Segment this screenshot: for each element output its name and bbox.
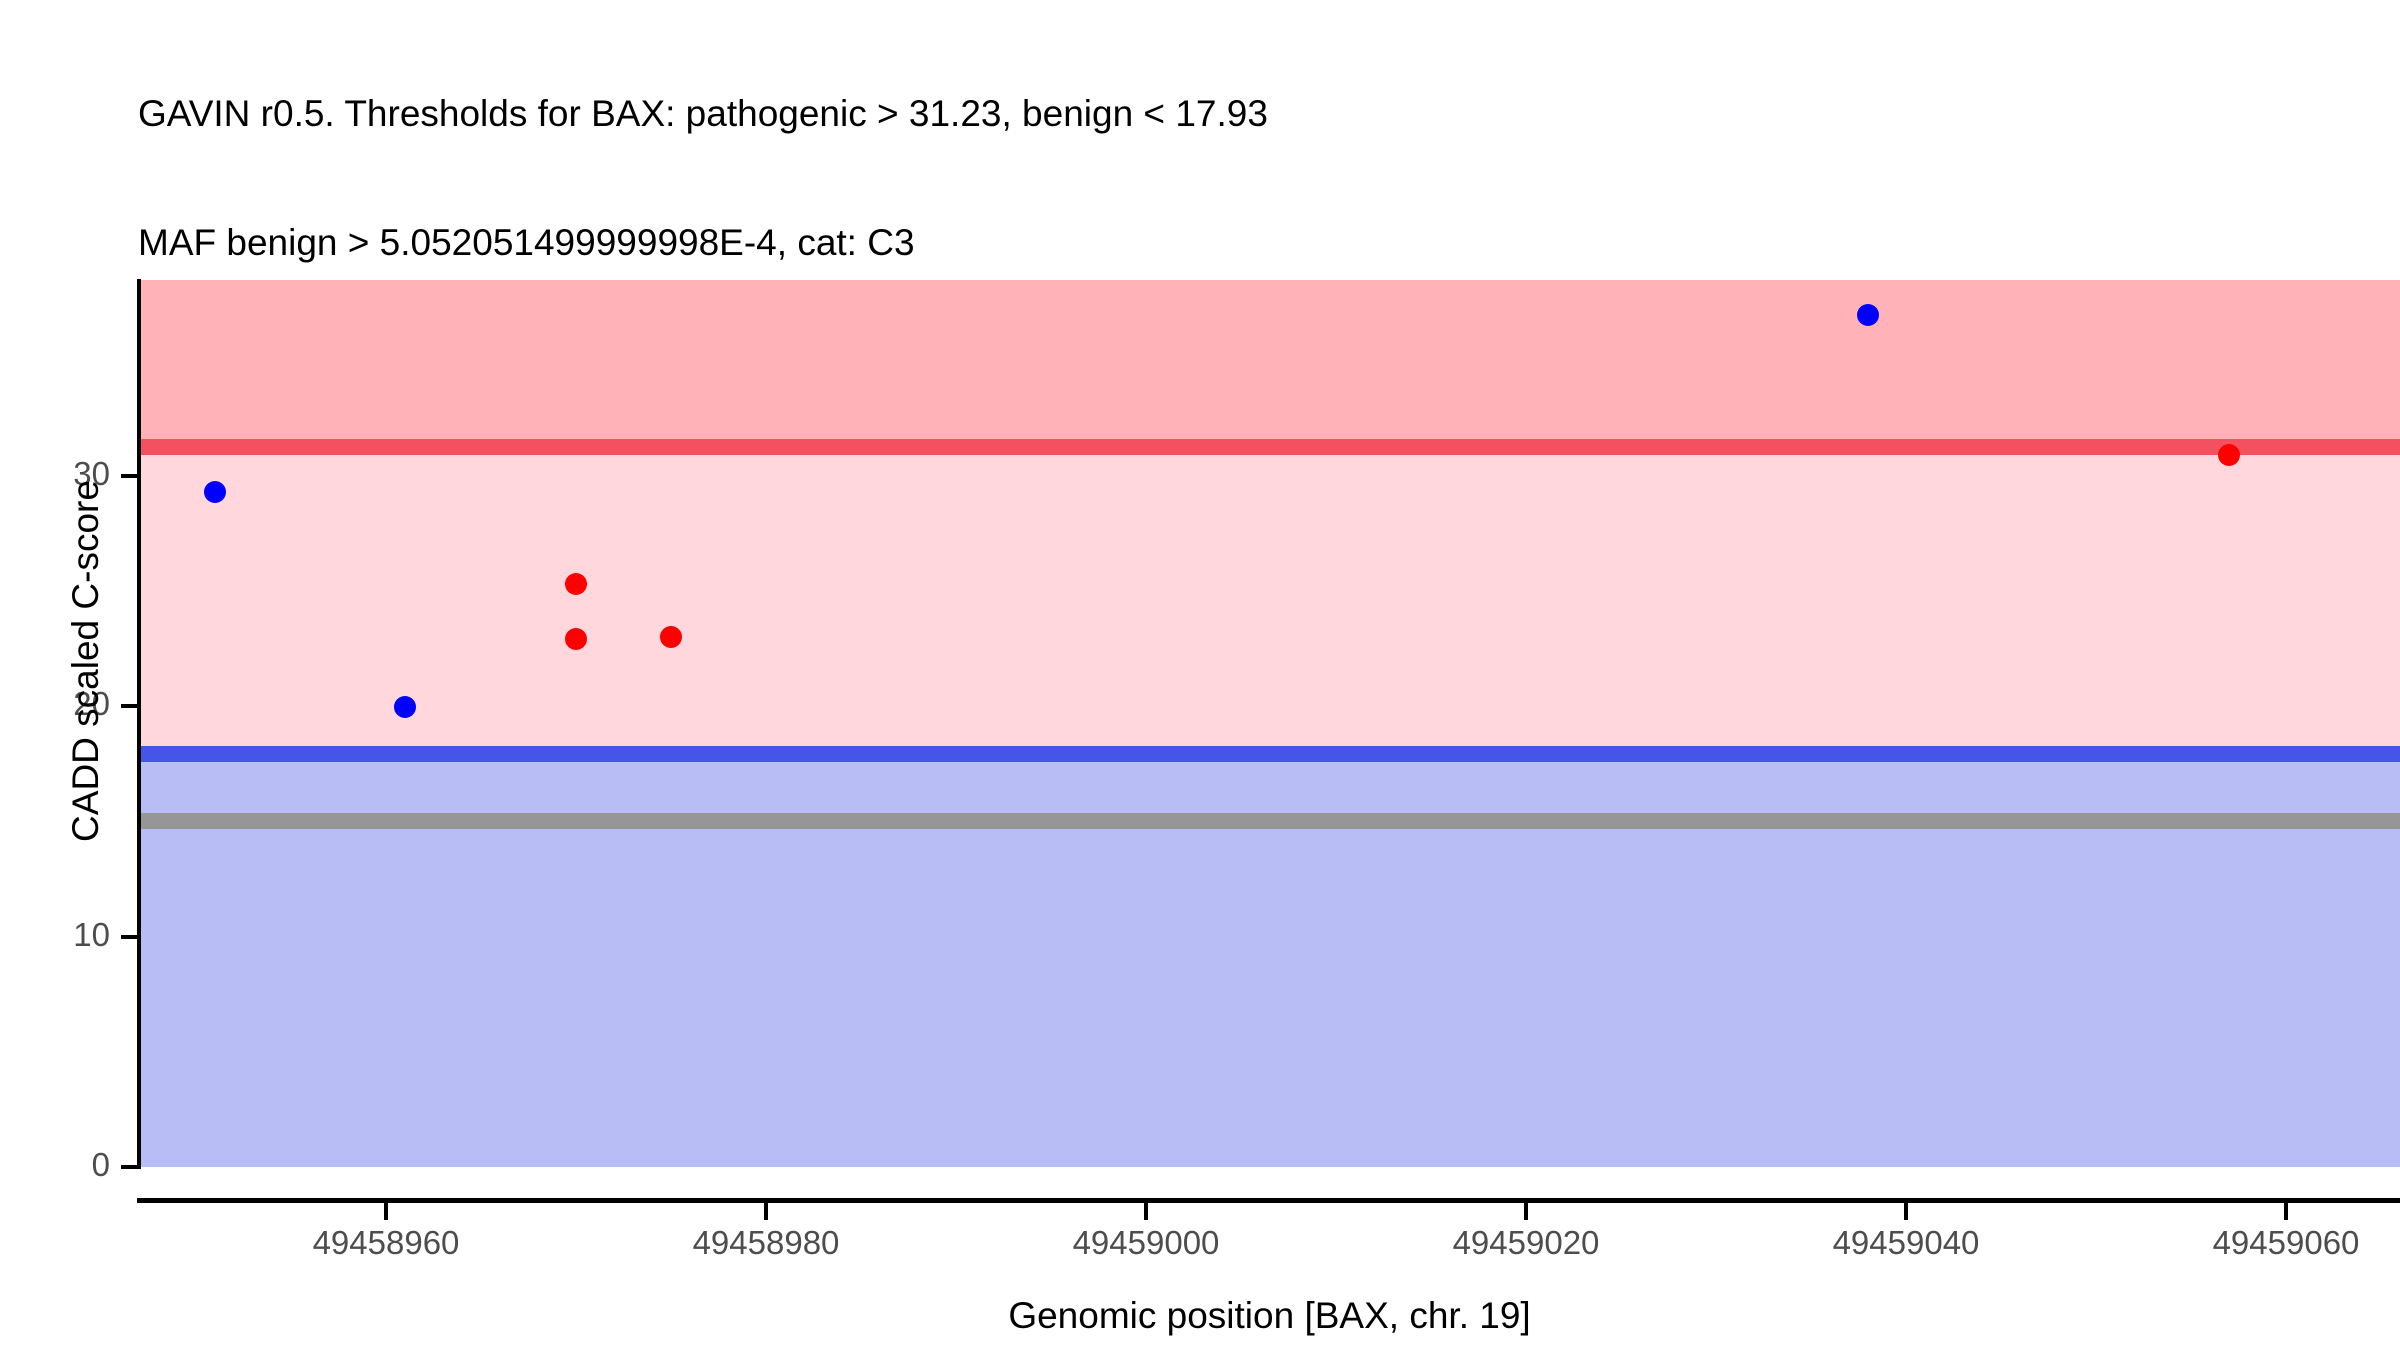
- y-axis-tick: [121, 474, 137, 478]
- x-axis-tick: [1144, 1203, 1148, 1220]
- pathogenic-band: [139, 280, 2400, 447]
- plot-area: [139, 280, 2400, 1167]
- data-point[interactable]: [565, 573, 587, 595]
- y-axis-label: CADD scaled C-score: [65, 361, 107, 961]
- x-axis-label: Genomic position [BAX, chr. 19]: [139, 1295, 2400, 1337]
- x-axis-tick-label: 49459020: [1376, 1224, 1676, 1262]
- x-axis-tick-label: 49459040: [1756, 1224, 2056, 1262]
- data-point[interactable]: [204, 481, 226, 503]
- genome-wide-fallback-threshold: [139, 813, 2400, 829]
- x-axis-tick: [764, 1203, 768, 1220]
- y-axis-tick: [121, 935, 137, 939]
- data-point[interactable]: [2218, 444, 2240, 466]
- x-axis-tick: [2284, 1203, 2288, 1220]
- x-axis-tick-label: 49458980: [616, 1224, 916, 1262]
- pathogenic-threshold: [139, 439, 2400, 455]
- y-axis-tick: [121, 1165, 137, 1169]
- x-axis-tick-label: 49459000: [996, 1224, 1296, 1262]
- benign-threshold: [139, 746, 2400, 762]
- y-axis-tick: [121, 704, 137, 708]
- chart-title-line-2: MAF benign > 5.052051499999998E-4, cat: …: [138, 221, 2378, 264]
- vous-band: [139, 447, 2400, 753]
- y-axis-tick-label: 0: [0, 1146, 110, 1184]
- chart-canvas: GAVIN r0.5. Thresholds for BAX: pathogen…: [0, 0, 2400, 1350]
- x-axis-tick: [384, 1203, 388, 1220]
- x-axis-tick-label: 49459060: [2136, 1224, 2400, 1262]
- chart-title-line-1: GAVIN r0.5. Thresholds for BAX: pathogen…: [138, 92, 2378, 135]
- x-axis-tick-label: 49458960: [236, 1224, 536, 1262]
- x-axis-line: [137, 1198, 2400, 1203]
- data-point[interactable]: [660, 626, 682, 648]
- y-axis-line: [137, 279, 141, 1169]
- data-point[interactable]: [1857, 304, 1879, 326]
- x-axis-tick: [1904, 1203, 1908, 1220]
- x-axis-tick: [1524, 1203, 1528, 1220]
